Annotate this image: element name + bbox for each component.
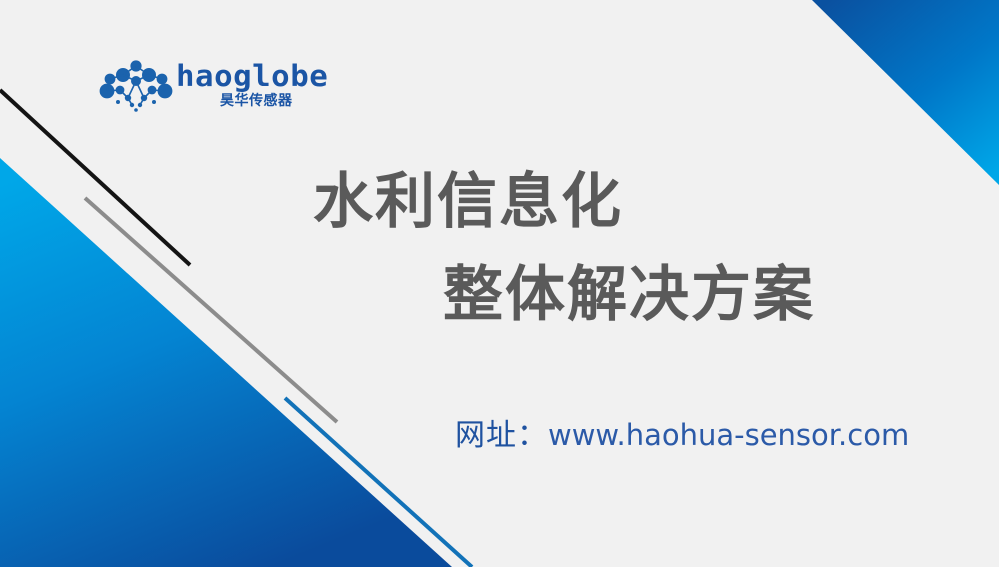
logo-subtitle-chinese: 昊华传感器: [220, 94, 293, 108]
company-logo: haoglobe 昊华传感器: [98, 58, 328, 120]
logo-wordmark: haoglobe: [176, 62, 328, 91]
left-blue-wedge-shape: [0, 158, 452, 567]
logo-text-block: haoglobe 昊华传感器: [176, 58, 326, 116]
website-url[interactable]: www.haohua-sensor.com: [548, 418, 909, 452]
website-line: 网址：www.haohua-sensor.com: [455, 421, 909, 451]
network-nodes-logo-icon: [98, 60, 174, 112]
presentation-title-slide: haoglobe 昊华传感器 水利信息化 整体解决方案 网址：www.haohu…: [0, 0, 999, 567]
website-label: 网址：: [455, 418, 548, 453]
top-right-blue-triangle-shape: [812, 0, 999, 185]
